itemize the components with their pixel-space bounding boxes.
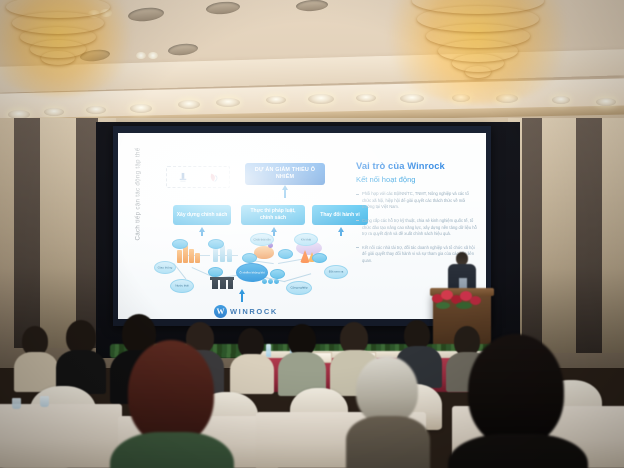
recessed-downlight [400, 94, 424, 103]
ceiling-spotlight-icon [148, 52, 158, 59]
slide-bullet: Cung cấp các hỗ trợ kỹ thuật, chia sẻ ki… [356, 218, 478, 238]
foreground-head [468, 334, 564, 446]
network-node [278, 249, 293, 259]
network-node [242, 253, 257, 263]
node-core-label: Ô nhiễm không khí [237, 271, 267, 274]
node-label: Nước thải [171, 284, 193, 287]
network-node-core: Ô nhiễm không khí [236, 263, 268, 282]
recessed-downlight [44, 108, 64, 116]
recessed-downlight [216, 98, 240, 107]
slide-right-title: Vai trò của Winrock [356, 160, 482, 171]
partner-logo-2-icon [207, 171, 221, 184]
chandelier-left [0, 0, 122, 80]
network-node: Nước thải [170, 279, 194, 293]
arrow-up-icon [239, 289, 245, 294]
recessed-downlight [178, 100, 200, 109]
network-node: Khí thải [294, 233, 318, 246]
partner-logo-1-icon [176, 171, 190, 184]
network-node [312, 253, 327, 263]
attendee-torso [230, 354, 274, 394]
network-node [208, 267, 223, 277]
chandelier-right [398, 0, 558, 84]
slide-network-diagram: Ô nhiễm không khí Giao thông Nước thải [152, 233, 352, 303]
audience-area [0, 300, 624, 468]
network-node: Công nghiệp [286, 281, 312, 295]
slide-vertical-label: Cách tiếp cận tác động tập thể [135, 149, 142, 241]
node-label: Giao thông [155, 266, 175, 269]
partner-logos-group [166, 166, 230, 188]
recessed-downlight [130, 104, 152, 113]
foreground-head [128, 340, 214, 444]
network-node: Giao thông [154, 261, 176, 274]
recessed-downlight [86, 106, 106, 114]
attendee-head [66, 320, 96, 354]
network-node: Đốt rơm rạ [324, 265, 348, 279]
slide-pillar-box-1: Xây dựng chính sách [173, 205, 231, 225]
node-label: Khí thải [295, 238, 317, 241]
foreground-head [356, 356, 418, 424]
slide-top-box: DỰ ÁN GIẢM THIỂU Ô NHIỄM [245, 163, 325, 185]
water-glass [12, 398, 21, 409]
node-label: Chất thải rắn [251, 238, 273, 241]
recessed-downlight [552, 96, 570, 104]
arrow-up-icon [282, 185, 288, 190]
network-node: Chất thải rắn [250, 233, 274, 246]
network-node [270, 269, 285, 279]
network-node [172, 239, 188, 249]
slide-right-subtitle: Kết nối hoạt động [356, 175, 482, 184]
recessed-downlight [308, 94, 334, 104]
water-glass [40, 396, 49, 407]
network-node [208, 239, 224, 249]
conference-hall-photo: Cách tiếp cận tác động tập thể DỰ ÁN GIẢ… [0, 0, 624, 468]
recessed-downlight [596, 98, 616, 106]
arrow-stem [284, 189, 286, 198]
node-label: Công nghiệp [287, 286, 311, 289]
slide-pillar-box-2: Thực thi pháp luật, chính sách [241, 205, 305, 225]
banquet-table [0, 404, 122, 468]
foreground-torso [346, 416, 430, 468]
slide-bullet: Phối hợp với các Bộ/NN/TC, TNMT, Nông ng… [356, 191, 478, 211]
recessed-downlight [356, 94, 376, 102]
recessed-downlight [266, 96, 286, 104]
node-label: Đốt rơm rạ [325, 270, 347, 273]
